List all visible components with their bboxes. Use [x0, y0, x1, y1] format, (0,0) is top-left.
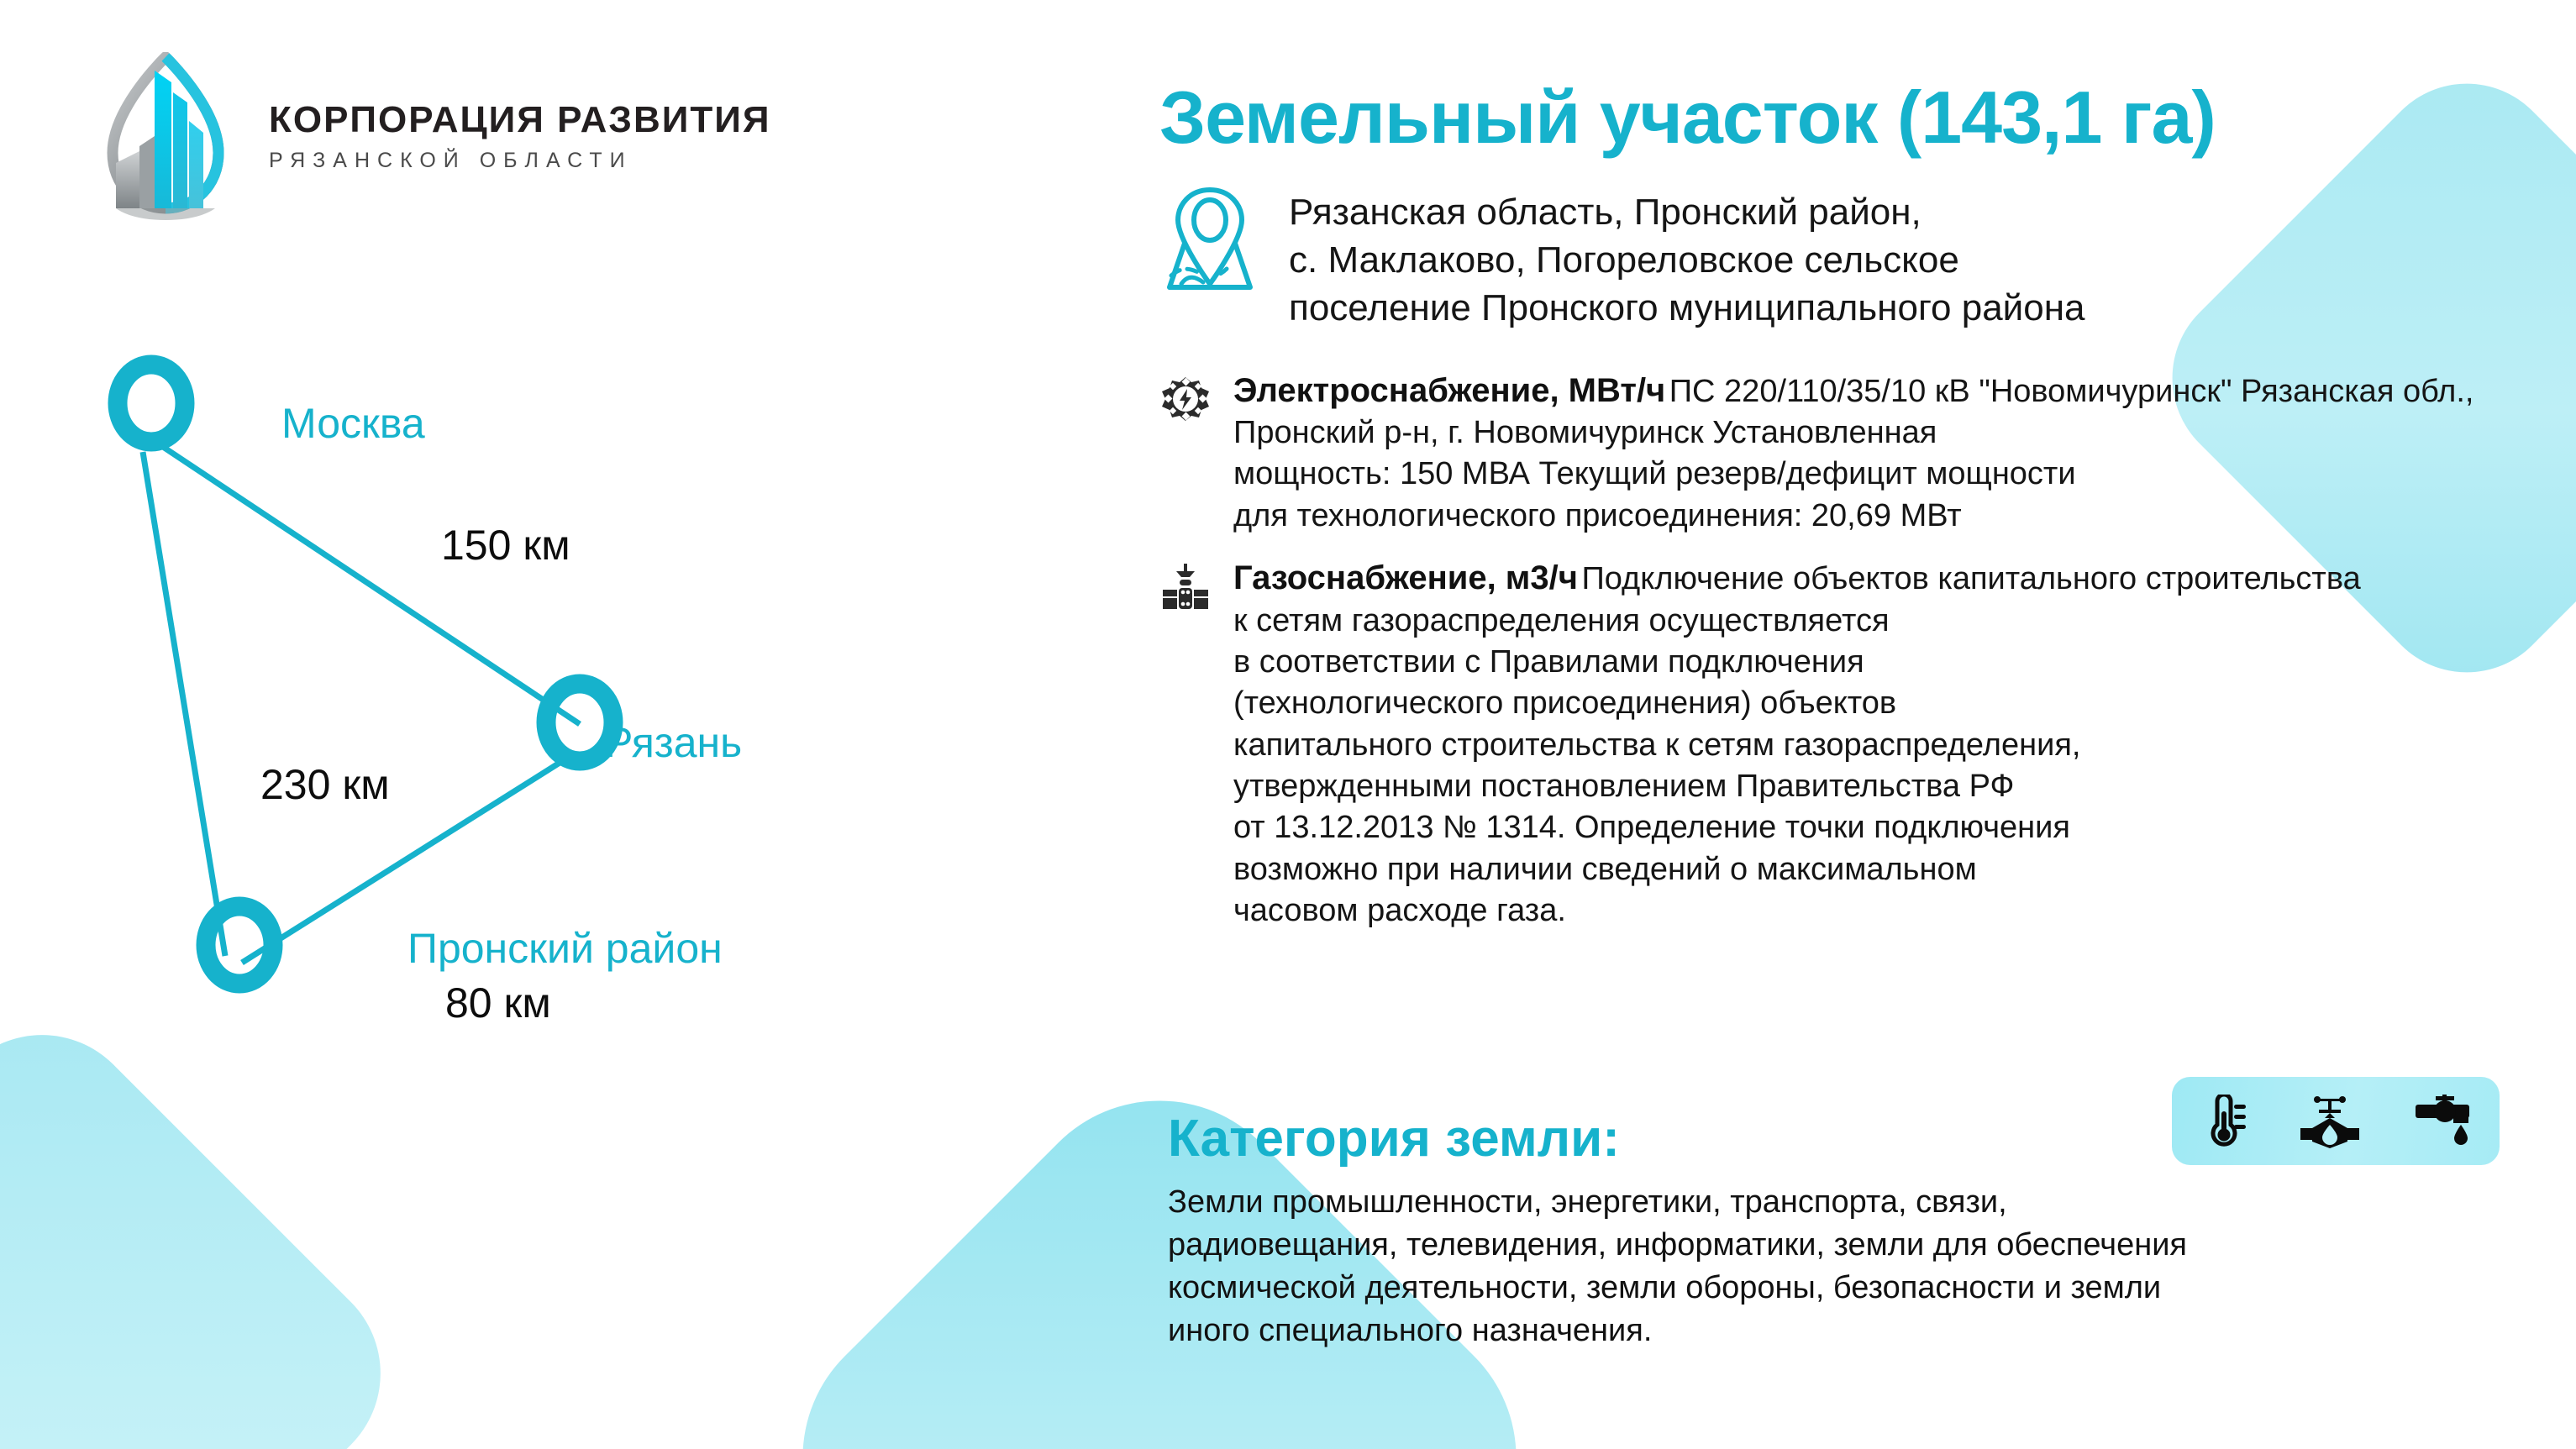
info-line: утвержденными постановлением Правительст…: [1233, 769, 2014, 804]
land-category-text: Земли промышленности, энергетики, трансп…: [1168, 1181, 2479, 1352]
water-tap-icon: [2414, 1095, 2473, 1148]
gas-valve-icon: [1159, 564, 1212, 616]
page-title: Земельный участок (143,1 га): [1159, 81, 2504, 155]
category-line: Земли промышленности, энергетики, трансп…: [1168, 1184, 2007, 1220]
address-line-1: Рязанская область, Пронский район,: [1289, 192, 1921, 233]
info-heading-gas: Газоснабжение, м3/ч: [1233, 559, 1578, 596]
edge-label-moscow-ryazan: 150 км: [441, 521, 570, 570]
category-line: иного специального назначения.: [1168, 1313, 1652, 1348]
info-body-gas: Газоснабжение, м3/ч Подключение объектов…: [1233, 559, 2504, 932]
info-line: возможно при наличии сведений о максимал…: [1233, 852, 1977, 887]
info-line: часовом расходе газа.: [1233, 893, 1566, 928]
utilities-badge: [2172, 1077, 2500, 1165]
info-line: для технологического присоединения: 20,6…: [1233, 498, 1962, 533]
category-line: космической деятельности, земли обороны,…: [1168, 1270, 2161, 1305]
info-block-electricity: Электроснабжение, МВт/ч ПС 220/110/35/10…: [1159, 371, 2504, 538]
brand-line-2: РЯЗАНСКОЙ ОБЛАСТИ: [269, 150, 771, 171]
slide-canvas: КОРПОРАЦИЯ РАЗВИТИЯ РЯЗАНСКОЙ ОБЛАСТИ Мо…: [0, 0, 2576, 1449]
address-line-3: поселение Пронского муниципального район…: [1289, 287, 2084, 328]
address-line-2: с. Маклаково, Погореловское сельское: [1289, 239, 1959, 281]
distance-diagram-graph: [59, 353, 1000, 1260]
content-column: Земельный участок (143,1 га) Рязанская о…: [1159, 81, 2504, 954]
info-body-electricity: Электроснабжение, МВт/ч ПС 220/110/35/10…: [1233, 371, 2504, 538]
edge-moscow-pronsk: [143, 452, 225, 956]
info-line: от 13.12.2013 № 1314. Определение точки …: [1233, 810, 2070, 845]
info-line: (технологического присоединения) объекто…: [1233, 685, 1896, 721]
info-line: к сетям газораспределения осуществляется: [1233, 603, 1890, 638]
brand-logo: КОРПОРАЦИЯ РАЗВИТИЯ РЯЗАНСКОЙ ОБЛАСТИ: [91, 52, 771, 220]
map-pin-icon: [1159, 185, 1260, 292]
info-line: Пронский р-н, г. Новомичуринск Установле…: [1233, 415, 1937, 450]
gear-lightning-icon: [1159, 376, 1212, 428]
node-label-moscow: Москва: [281, 399, 425, 448]
brand-logo-text: КОРПОРАЦИЯ РАЗВИТИЯ РЯЗАНСКОЙ ОБЛАСТИ: [269, 101, 771, 171]
info-line: мощность: 150 МВА Текущий резерв/дефицит…: [1233, 456, 2076, 491]
gas-valve-icon: [2300, 1095, 2359, 1148]
distance-diagram: Москва Рязань Пронский район 150 км 230 …: [59, 353, 1000, 1260]
info-block-gas: Газоснабжение, м3/ч Подключение объектов…: [1159, 559, 2504, 932]
info-line: в соответствии с Правилами подключения: [1233, 644, 1864, 680]
address-row: Рязанская область, Пронский район, с. Ма…: [1159, 185, 2504, 333]
edge-moscow-ryazan: [158, 444, 580, 724]
info-heading-electricity: Электроснабжение, МВт/ч: [1233, 372, 1665, 409]
category-line: радиовещания, телевидения, информатики, …: [1168, 1227, 2187, 1263]
node-label-ryazan: Рязань: [605, 718, 742, 767]
info-line: капитального строительства к сетям газор…: [1233, 727, 2080, 763]
node-moscow: [118, 365, 185, 442]
node-pronsk: [206, 906, 273, 984]
edge-label-ryazan-pronsk: 80 км: [445, 979, 551, 1027]
brand-line-1: КОРПОРАЦИЯ РАЗВИТИЯ: [269, 101, 771, 139]
node-label-pronsk: Пронский район: [407, 924, 723, 973]
info-text-gas: Подключение объектов капитального строит…: [1233, 561, 2361, 928]
edge-label-moscow-pronsk: 230 км: [260, 760, 390, 809]
thermometer-icon: [2199, 1095, 2246, 1148]
info-line: ПС 220/110/35/10 кВ "Новомичуринск" Ряза…: [1669, 374, 2474, 409]
corporation-development-logo-icon: [91, 52, 240, 220]
info-line: Подключение объектов капитального строит…: [1581, 561, 2360, 596]
address-text: Рязанская область, Пронский район, с. Ма…: [1289, 185, 2084, 333]
